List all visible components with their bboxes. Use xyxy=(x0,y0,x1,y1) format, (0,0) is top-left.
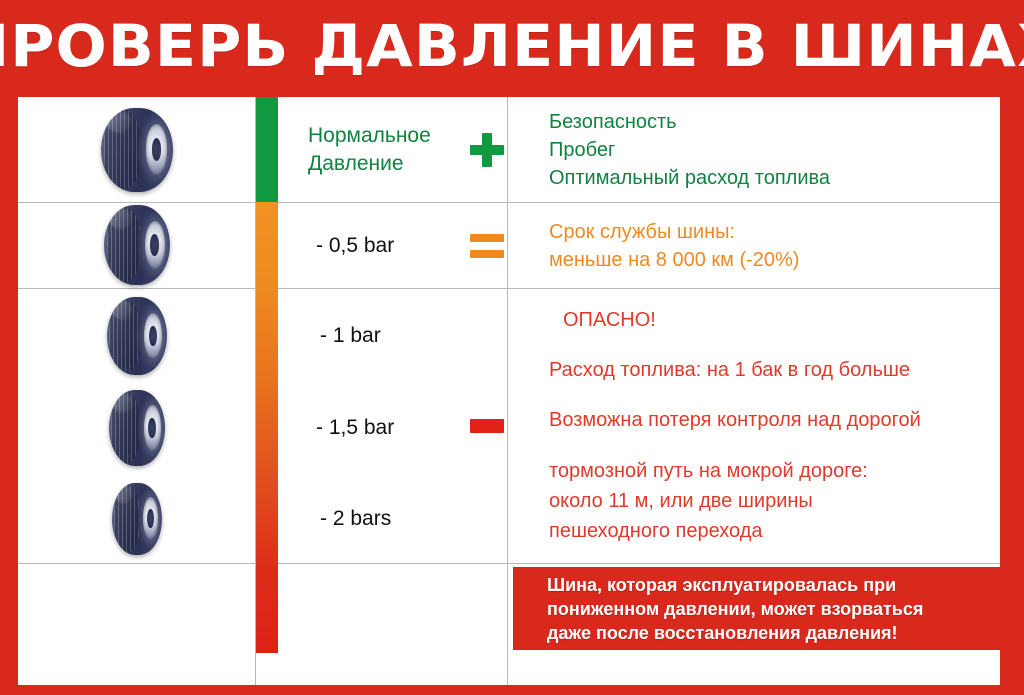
pressure-label-1bar: - 1 bar xyxy=(278,322,381,349)
consequences-05bar: Срок службы шины: меньше на 8 000 км (-2… xyxy=(526,218,799,274)
braking-line-1: тормозной путь на мокрой дороге: xyxy=(549,456,921,486)
page-title: ПРОВЕРЬ ДАВЛЕНИЕ В ШИНАХ xyxy=(0,17,1024,75)
pressure-label-normal-line2: Давление xyxy=(308,150,431,178)
tire-cell-normal xyxy=(18,97,256,202)
pressure-severity-gradient-bar xyxy=(256,97,278,653)
braking-line-3: пешеходного перехода xyxy=(549,516,921,546)
tire-15bar-icon xyxy=(109,390,165,466)
tire-cell-2bar xyxy=(18,474,256,563)
gradient-segment-orange-red xyxy=(256,202,278,653)
tire-2bar-icon xyxy=(112,483,162,555)
minus-icon xyxy=(470,419,504,433)
plus-icon xyxy=(470,133,504,167)
warning-box: Шина, которая эксплуатировалась при пони… xyxy=(513,567,1000,650)
pressure-label-normal: Нормальное Давление xyxy=(278,122,431,178)
consequences-danger: ОПАСНО! Расход топлива: на 1 бак в год б… xyxy=(526,306,921,546)
consequence-item: Расход топлива: на 1 бак в год больше xyxy=(549,356,921,384)
pressure-label-05bar: - 0,5 bar xyxy=(278,232,394,259)
sign-cell-normal xyxy=(448,97,525,202)
consequences-cell-05bar: Срок службы шины: меньше на 8 000 км (-2… xyxy=(526,203,1000,288)
consequence-item: Срок службы шины: xyxy=(549,218,799,246)
sign-cell-05bar xyxy=(448,203,525,288)
gradient-segment-green xyxy=(256,97,278,202)
info-table-panel: Нормальное Давление Безопасность Пробег … xyxy=(18,97,1000,685)
warning-text: Шина, которая эксплуатировалась при пони… xyxy=(513,573,923,645)
warning-line-2: пониженном давлении, может взорваться xyxy=(547,597,923,621)
consequences-cell-normal: Безопасность Пробег Оптимальный расход т… xyxy=(526,97,1000,202)
equals-icon xyxy=(470,234,504,258)
tire-cell-1bar xyxy=(18,290,256,382)
braking-line-2: около 11 м, или две ширины xyxy=(549,486,921,516)
row-divider-3 xyxy=(18,563,1000,564)
tire-cell-05bar xyxy=(18,202,256,288)
tire-1bar-icon xyxy=(107,297,167,375)
pressure-label-2bar: - 2 bars xyxy=(278,505,391,532)
title-bar: ПРОВЕРЬ ДАВЛЕНИЕ В ШИНАХ xyxy=(0,0,1024,92)
warning-line-3: даже после восстановления давления! xyxy=(547,621,923,645)
tire-cell-15bar xyxy=(18,382,256,474)
pressure-label-15bar: - 1,5 bar xyxy=(278,414,394,441)
consequence-item: Пробег xyxy=(549,136,830,164)
braking-distance-block: тормозной путь на мокрой дороге: около 1… xyxy=(549,456,921,546)
consequence-item: Возможна потеря контроля над дорогой xyxy=(549,406,921,434)
consequence-item: Оптимальный расход топлива xyxy=(549,164,830,192)
consequences-cell-danger: ОПАСНО! Расход топлива: на 1 бак в год б… xyxy=(526,289,1000,563)
sign-cell-danger xyxy=(448,289,525,563)
consequence-item: меньше на 8 000 км (-20%) xyxy=(549,246,799,274)
warning-line-1: Шина, которая эксплуатировалась при xyxy=(547,573,923,597)
consequence-item: Безопасность xyxy=(549,108,830,136)
danger-heading: ОПАСНО! xyxy=(549,306,921,334)
consequences-normal: Безопасность Пробег Оптимальный расход т… xyxy=(526,108,830,192)
tire-normal-icon xyxy=(101,108,173,192)
pressure-label-normal-line1: Нормальное xyxy=(308,122,431,150)
tire-05bar-icon xyxy=(104,205,170,285)
